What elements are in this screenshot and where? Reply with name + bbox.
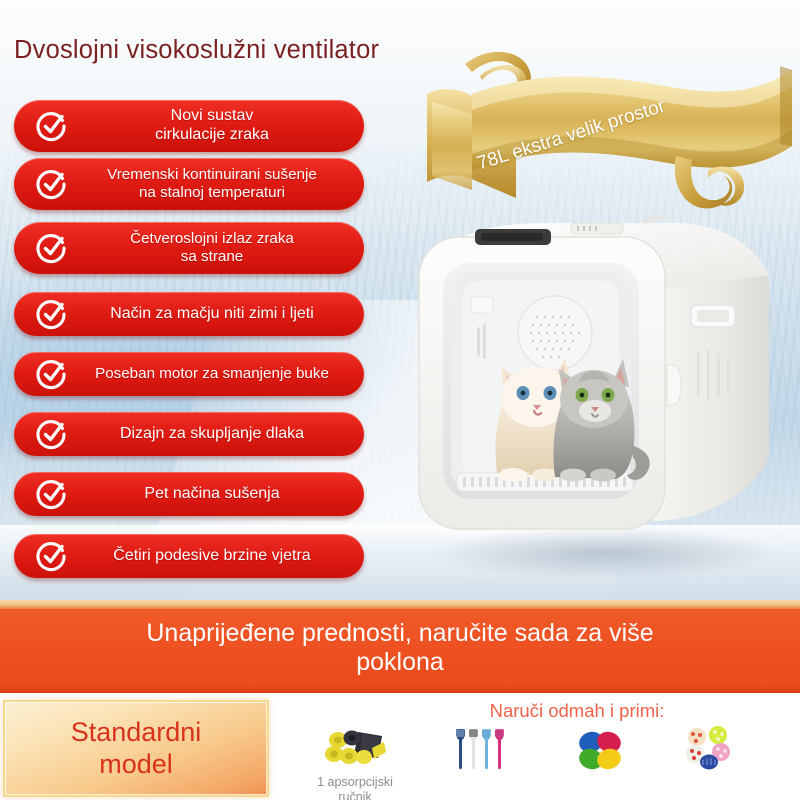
check-circle-icon (36, 298, 68, 330)
gifts-title: Naruči odmah i primi: (412, 700, 742, 722)
page-title: Dvoslojni visokoslužni ventilator (14, 36, 379, 65)
product-image (405, 205, 795, 595)
feature-pill[interactable]: Četveroslojni izlaz zraka sa strane (14, 222, 364, 274)
sponge-set-icon (545, 724, 655, 776)
check-circle-icon (36, 418, 68, 450)
feature-line-1: Novi sustav (76, 107, 348, 126)
feature-line-2: sa strane (76, 248, 348, 266)
gift-caption-line-1: 1 apsorpcijski (300, 775, 410, 790)
check-circle-icon (36, 540, 68, 572)
gift-caption-line-2: ručnik (300, 790, 410, 800)
cta-line-2: poklona (146, 648, 653, 677)
check-circle-icon (36, 358, 68, 390)
feature-pill[interactable]: Poseban motor za smanjenje buke (14, 352, 364, 396)
feature-pill[interactable]: Dizajn za skupljanje dlaka (14, 412, 364, 456)
check-circle-icon (36, 478, 68, 510)
gold-ribbon-banner: 78L ekstra velik prostor (420, 28, 800, 228)
feature-line-1: Vremenski kontinuirani sušenje (76, 166, 348, 184)
model-variant-card[interactable]: Standardni model (3, 700, 269, 797)
feature-line-2: na stalnoj temperaturi (76, 184, 348, 202)
model-line-2: model (71, 749, 202, 780)
feature-pill[interactable]: Vremenski kontinuirani sušenje na stalno… (14, 158, 364, 210)
gift-item[interactable] (545, 724, 655, 777)
cta-banner-text: Unaprijeđene prednosti, naručite sada za… (98, 619, 701, 677)
gift-caption: 1 apsorpcijski ručnik (300, 775, 410, 800)
gift-item[interactable]: 1 apsorpcijski ručnik (300, 722, 410, 800)
towel-icon (300, 722, 410, 774)
banner-top-divider (0, 600, 800, 609)
cta-line-1: Unaprijeđene prednosti, naručite sada za… (146, 619, 653, 648)
gift-item[interactable] (655, 722, 765, 775)
feature-pill[interactable]: Četiri podesive brzine vjetra (14, 534, 364, 578)
pet-dryer-box-illustration (405, 205, 795, 595)
feature-pill[interactable]: Pet načina sušenja (14, 472, 364, 516)
feature-pill[interactable]: Novi sustav cirkulacije zraka (14, 100, 364, 152)
feature-line-2: cirkulacije zraka (76, 126, 348, 145)
check-circle-icon (36, 232, 68, 264)
model-line-1: Standardni (71, 717, 202, 748)
cta-banner[interactable]: Unaprijeđene prednosti, naručite sada za… (0, 609, 800, 687)
check-circle-icon (36, 110, 68, 142)
check-circle-icon (36, 168, 68, 200)
product-promo-page: Dvoslojni visokoslužni ventilator (0, 0, 800, 800)
comb-set-icon (425, 724, 535, 776)
feature-line-1: Četveroslojni izlaz zraka (76, 230, 348, 248)
toy-balls-icon (655, 722, 765, 774)
gift-item[interactable] (425, 724, 535, 777)
model-variant-label: Standardni model (71, 717, 202, 779)
feature-pill[interactable]: Način za mačju niti zimi i ljeti (14, 292, 364, 336)
